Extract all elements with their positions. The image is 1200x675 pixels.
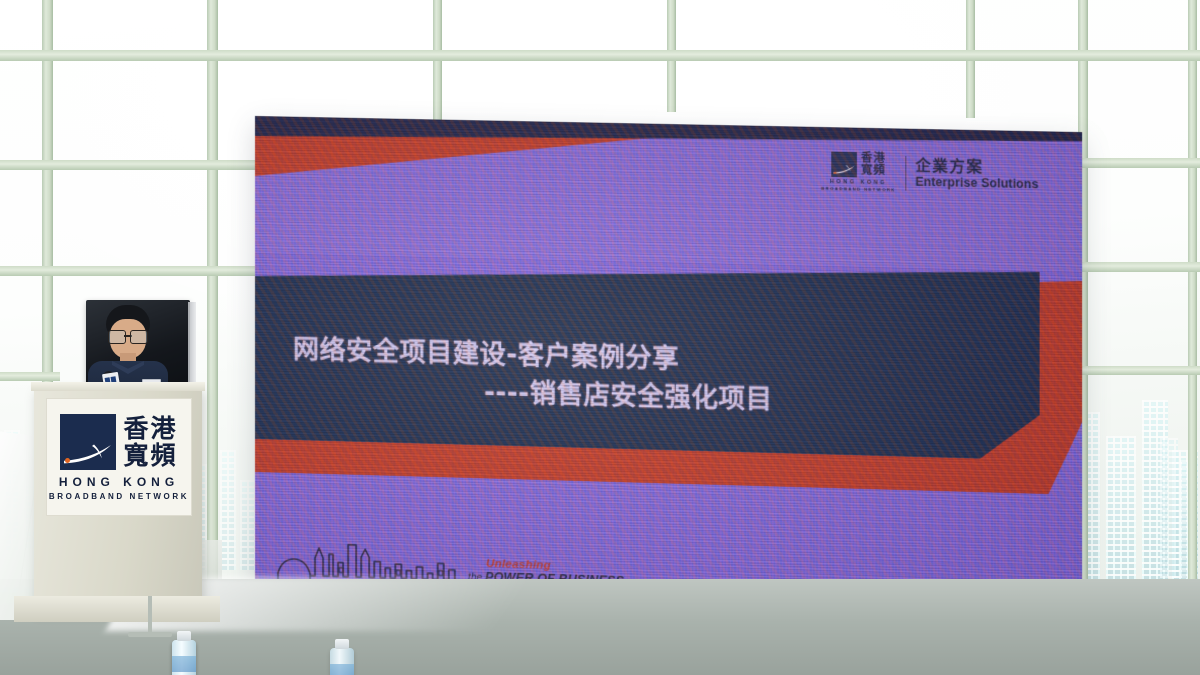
led-slide-surface: 网络安全项目建设-客户案例分享 ----销售店安全强化项目: [255, 116, 1082, 642]
glasses-lens-left: [108, 330, 126, 344]
slide-title-line-2: ----销售店安全强化项目: [484, 372, 772, 417]
window-mullion-horizontal: [0, 372, 60, 381]
hkbn-mark-en-line-1: HONG KONG: [830, 179, 887, 186]
hkbn-logo-lockup: 香港 寬頻 HONG KONG BROADBAND NETWORK 企業方案 E…: [821, 151, 1038, 195]
slide-title-block: 网络安全项目建设-客户案例分享 ----销售店安全强化项目: [255, 254, 1040, 460]
swoosh-icon: [64, 444, 112, 464]
division-title-en: Enterprise Solutions: [915, 176, 1038, 192]
slide-title-line-1: 网络安全项目建设-客户案例分享: [293, 329, 679, 376]
window-mullion-horizontal: [1068, 366, 1200, 375]
mic-stand-foot: [128, 632, 172, 637]
division-title-cn: 企業方案: [915, 157, 1038, 176]
hkbn-brand-mark: 香港 寬頻 HONG KONG BROADBAND NETWORK: [821, 151, 895, 192]
monitor-edge: [188, 302, 196, 390]
podium-brand-sign: 香港 寬頻 HONG KONG BROADBAND NETWORK: [46, 398, 192, 516]
podium-sign-cjk-line-1: 香港: [123, 415, 177, 442]
glasses-lens-right: [130, 330, 148, 344]
podium-sign-row: 香港 寬頻: [60, 414, 177, 470]
podium-sign-cjk: 香港 寬頻: [123, 415, 177, 469]
window-mullion-horizontal: [1066, 262, 1200, 272]
hkbn-mark-cjk-line-2: 寬頻: [861, 164, 886, 176]
window-mullion-vertical: [207, 0, 218, 600]
window-mullion-horizontal: [0, 160, 260, 170]
window-mullion-horizontal: [1064, 158, 1200, 168]
podium-sign-en-line-2: BROADBAND NETWORK: [49, 492, 189, 501]
hkbn-mark-en-line-2: BROADBAND NETWORK: [821, 186, 895, 193]
division-title: 企業方案 Enterprise Solutions: [915, 157, 1038, 191]
swoosh-icon: [833, 165, 855, 175]
glasses-icon: [108, 330, 148, 342]
mic-stand: [148, 596, 152, 636]
podium: 香港 寬頻 HONG KONG BROADBAND NETWORK: [34, 388, 202, 610]
hkbn-mark-row: 香港 寬頻: [831, 152, 885, 178]
presentation-room-scene: 网络安全项目建设-客户案例分享 ----销售店安全强化项目: [0, 0, 1200, 675]
podium-sign-en-line-1: HONG KONG: [59, 475, 179, 489]
window-mullion-horizontal: [0, 50, 1200, 61]
led-presentation-screen: 网络安全项目建设-客户案例分享 ----销售店安全强化项目: [255, 116, 1082, 642]
hkbn-square-icon: [60, 414, 116, 470]
window-mullion-vertical: [1188, 0, 1197, 600]
bottle-label: [330, 664, 354, 675]
logo-divider: [905, 156, 906, 191]
orange-dot-icon: [834, 171, 837, 174]
water-bottle: [330, 648, 354, 675]
bottle-cap: [335, 639, 349, 649]
window-mullion-horizontal: [0, 266, 262, 276]
bottle-cap: [177, 631, 191, 641]
podium-base: [14, 596, 220, 622]
podium-sign-cjk-line-2: 寬頻: [123, 442, 177, 469]
water-bottle: [172, 640, 196, 675]
bottle-label: [172, 656, 196, 672]
hkbn-mark-cjk: 香港 寬頻: [861, 152, 886, 176]
podium-top-surface: [31, 382, 205, 391]
hkbn-square-icon: [831, 152, 857, 178]
